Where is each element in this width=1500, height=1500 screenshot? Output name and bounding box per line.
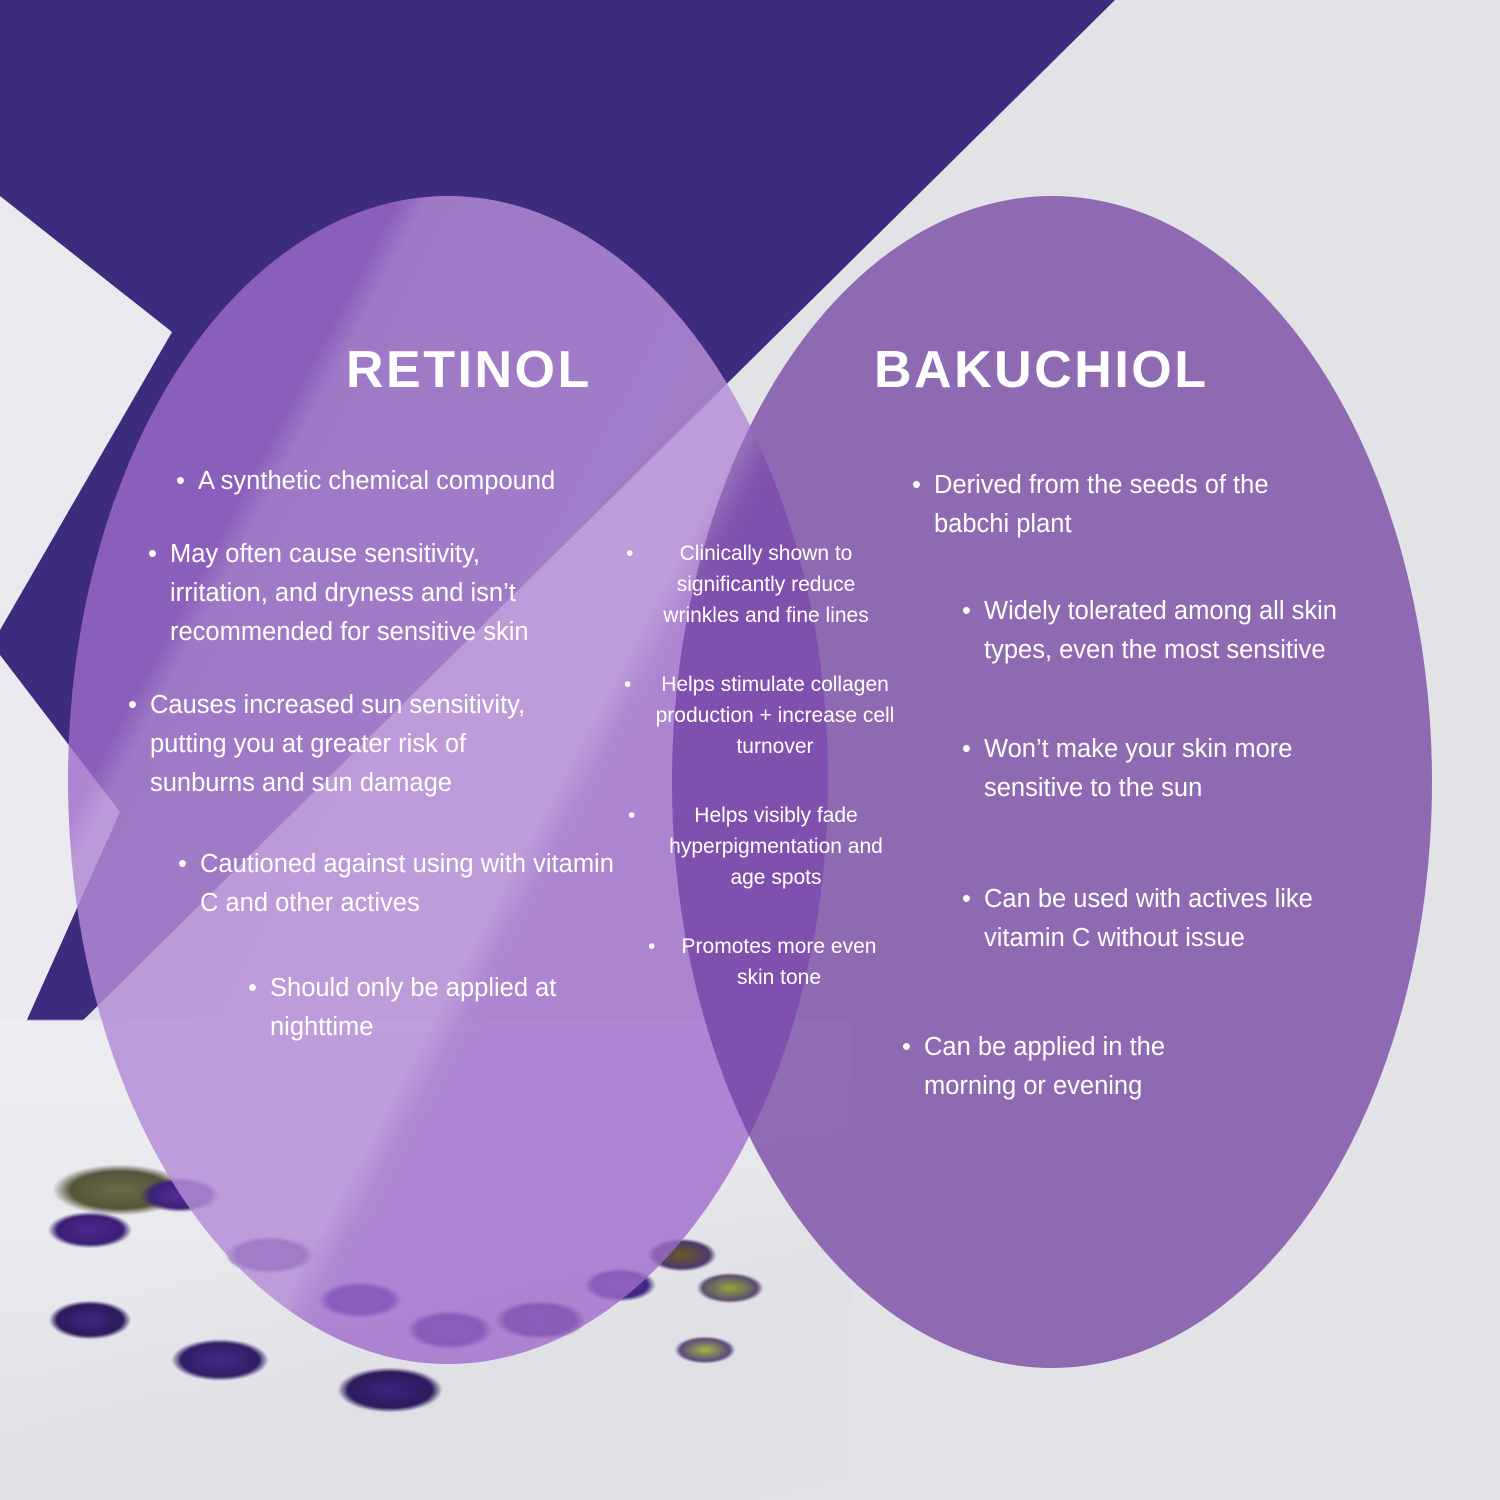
list-item: Won’t make your skin more sensitive to t… (984, 730, 1364, 808)
list-item: Widely tolerated among all skin types, e… (984, 592, 1364, 670)
list-item: May often cause sensitivity, irritation,… (170, 535, 570, 652)
retinol-bullet-list: A synthetic chemical compound May often … (128, 462, 598, 1081)
retinol-title: RETINOL (346, 340, 592, 400)
list-item: Causes increased sun sensitivity, puttin… (150, 686, 570, 803)
list-item: Cautioned against using with vitamin C a… (200, 845, 620, 923)
bakuchiol-bullet-list: Derived from the seeds of the babchi pla… (912, 466, 1352, 1140)
list-item: Should only be applied at nighttime (270, 969, 630, 1047)
list-item: Clinically shown to significantly reduce… (652, 538, 880, 631)
venn-infographic: RETINOL BAKUCHIOL A synthetic chemical c… (0, 0, 1500, 1500)
list-item: A synthetic chemical compound (198, 462, 618, 501)
bakuchiol-title: BAKUCHIOL (874, 340, 1208, 400)
list-item: Promotes more even skin tone (674, 931, 884, 993)
list-item: Helps visibly fade hyperpigmentation and… (654, 800, 898, 893)
list-item: Derived from the seeds of the babchi pla… (934, 466, 1334, 544)
list-item: Can be used with actives like vitamin C … (984, 880, 1384, 958)
list-item: Helps stimulate collagen production + in… (650, 669, 900, 762)
list-item: Can be applied in the morning or evening (924, 1028, 1244, 1106)
shared-bullet-list: Clinically shown to significantly reduce… (628, 538, 878, 1031)
